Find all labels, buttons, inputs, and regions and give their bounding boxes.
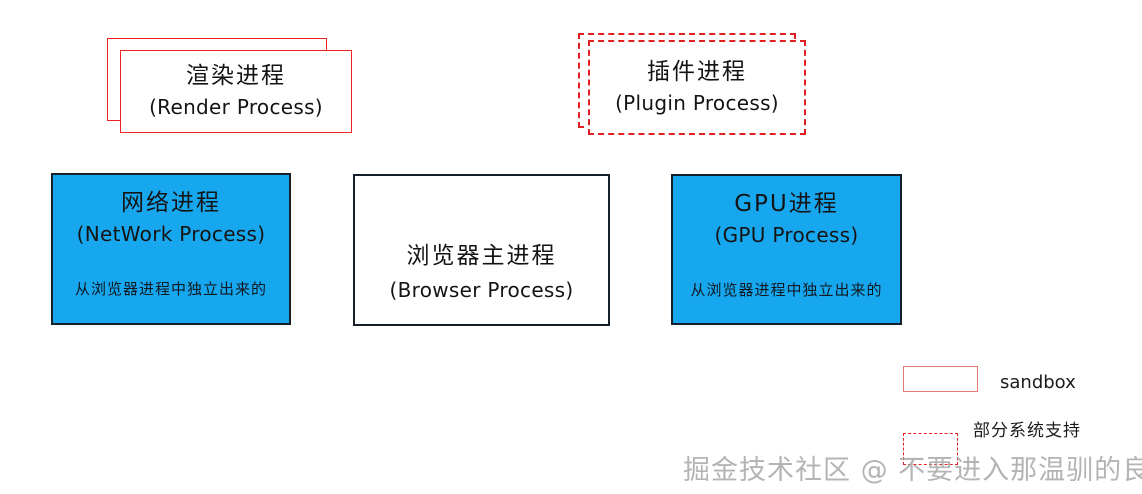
- render-process-label: 渲染进程 (Render Process): [120, 50, 352, 133]
- plugin-process-title: 插件进程: [647, 60, 747, 85]
- plugin-process-subtitle: (Plugin Process): [615, 91, 779, 115]
- gpu-process-note: 从浏览器进程中独立出来的: [690, 279, 882, 300]
- legend-partial-support-label: 部分系统支持: [973, 416, 1081, 441]
- network-process-box[interactable]: 网络进程 (NetWork Process) 从浏览器进程中独立出来的: [51, 173, 291, 325]
- legend-sandbox-label: sandbox: [1000, 372, 1076, 393]
- browser-process-title: 浏览器主进程: [407, 244, 557, 269]
- network-process-note: 从浏览器进程中独立出来的: [75, 278, 267, 299]
- diagram-canvas: 渲染进程 (Render Process) 插件进程 (Plugin Proce…: [0, 0, 1142, 494]
- browser-process-subtitle: (Browser Process): [390, 278, 574, 302]
- plugin-process-label: 插件进程 (Plugin Process): [588, 40, 806, 135]
- browser-process-box[interactable]: 浏览器主进程 (Browser Process): [353, 174, 610, 326]
- network-process-subtitle: (NetWork Process): [77, 222, 266, 246]
- render-process-subtitle: (Render Process): [149, 95, 323, 119]
- gpu-process-title: GPU进程: [734, 192, 839, 217]
- network-process-title: 网络进程: [121, 191, 221, 216]
- legend-partial-support-swatch: [903, 433, 958, 465]
- plugin-process-box[interactable]: 插件进程 (Plugin Process): [578, 33, 806, 135]
- render-process-title: 渲染进程: [186, 64, 286, 89]
- legend-sandbox-swatch: [903, 366, 978, 392]
- gpu-process-box[interactable]: GPU进程 (GPU Process) 从浏览器进程中独立出来的: [671, 174, 902, 325]
- gpu-process-subtitle: (GPU Process): [715, 223, 859, 247]
- render-process-box[interactable]: 渲染进程 (Render Process): [107, 38, 352, 133]
